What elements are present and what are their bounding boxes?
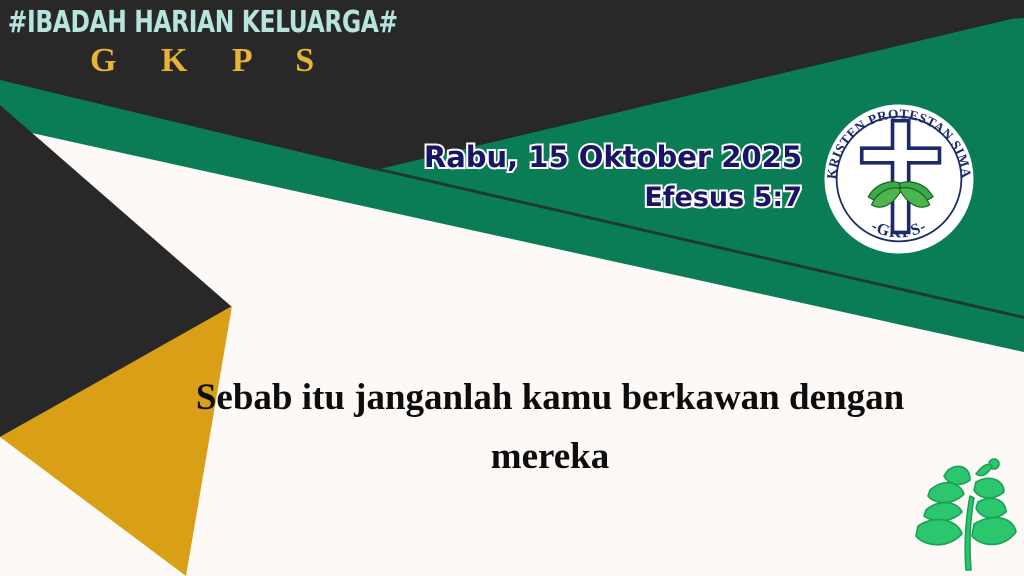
background-shapes xyxy=(0,0,1024,576)
date-block: Rabu, 15 Oktober 2025 Efesus 5:7 xyxy=(382,137,802,218)
slide-canvas: #IBADAH HARIAN KELUARGA# G K P S Rabu, 1… xyxy=(0,0,1024,576)
plant-icon xyxy=(908,452,1020,572)
verse-text: Sebab itu janganlah kamu berkawan dengan… xyxy=(180,368,920,486)
gkps-logo: GEREJA KRISTEN PROTESTAN SIMALUNGUN -GKP… xyxy=(818,98,980,260)
page-title: #IBADAH HARIAN KELUARGA# xyxy=(0,0,328,40)
brand-name: G K P S xyxy=(0,40,420,80)
date-label: Rabu, 15 Oktober 2025 xyxy=(382,137,802,178)
scripture-reference: Efesus 5:7 xyxy=(382,178,802,218)
header-block: #IBADAH HARIAN KELUARGA# G K P S xyxy=(0,0,420,80)
